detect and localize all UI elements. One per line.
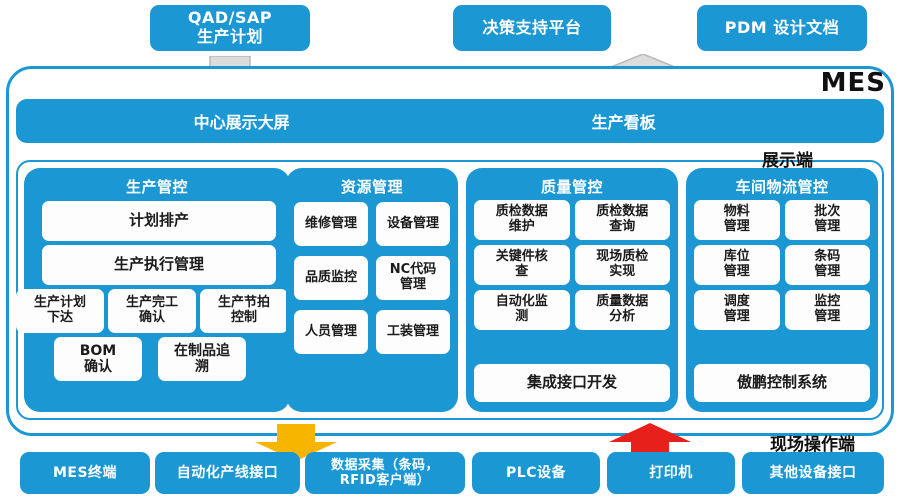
panel-resource-management-title: 资源管理: [286, 176, 458, 197]
module-quality-data-analysis-label: 质量数据分析: [596, 295, 648, 325]
display-side-label: 展示端: [762, 146, 813, 171]
device-data-acquisition-label: 数据采集（条码，RFID客户端）: [331, 458, 439, 489]
module-aopeng-control-system-label: 傲鹏控制系统: [737, 374, 827, 391]
module-monitoring-management[interactable]: 监控管理: [785, 290, 871, 330]
module-plan-release[interactable]: 生产计划下达: [16, 289, 104, 333]
device-plc-equipment-label: PLC设备: [506, 465, 566, 482]
device-other-device-interface[interactable]: 其他设备接口: [742, 452, 884, 494]
module-completion-confirm-label: 生产完工确认: [126, 296, 178, 326]
device-automation-line-interface-label: 自动化产线接口: [177, 465, 279, 482]
device-printer-label: 打印机: [649, 465, 693, 482]
module-inspection-data-query-label: 质检数据查询: [596, 205, 648, 235]
module-automated-monitoring[interactable]: 自动化监测: [474, 290, 570, 330]
module-wip-tracking-label: 在制品追溯: [174, 343, 230, 375]
module-production-execution[interactable]: 生产执行管理: [42, 245, 276, 285]
module-wip-tracking[interactable]: 在制品追溯: [158, 337, 246, 381]
module-integration-interface-development[interactable]: 集成接口开发: [474, 364, 670, 402]
module-onsite-inspection[interactable]: 现场质检实现: [575, 245, 671, 285]
panel-resource-management: 资源管理 维修管理 设备管理 品质监控 NC代码管理 人员管理 工装管理: [286, 168, 458, 412]
panel-workshop-logistics-control: 车间物流管控 物料管理 批次管理 库位管理 条码管理 调度管理 监控管理 傲鹏控…: [686, 168, 878, 412]
device-plc-equipment[interactable]: PLC设备: [472, 452, 600, 494]
module-personnel-management[interactable]: 人员管理: [294, 310, 368, 354]
panel-resource-management-grid: 维修管理 设备管理 品质监控 NC代码管理 人员管理 工装管理: [294, 202, 450, 354]
module-monitoring-management-label: 监控管理: [814, 295, 840, 325]
module-maintenance-management-label: 维修管理: [305, 217, 357, 232]
module-plan-scheduling[interactable]: 计划排产: [42, 201, 276, 241]
module-material-management[interactable]: 物料管理: [694, 200, 780, 240]
module-dispatch-management[interactable]: 调度管理: [694, 290, 780, 330]
module-inspection-data-maintenance-label: 质检数据维护: [496, 205, 548, 235]
module-inspection-data-maintenance[interactable]: 质检数据维护: [474, 200, 570, 240]
module-tooling-management[interactable]: 工装管理: [376, 310, 450, 354]
banner-center-screen-label: 中心展示大屏: [194, 109, 290, 133]
device-data-acquisition[interactable]: 数据采集（条码，RFID客户端）: [305, 452, 465, 494]
module-completion-confirm[interactable]: 生产完工确认: [108, 289, 196, 333]
module-location-management[interactable]: 库位管理: [694, 245, 780, 285]
module-batch-management-label: 批次管理: [814, 205, 840, 235]
banner-production-board-label: 生产看板: [592, 109, 656, 133]
module-plan-scheduling-label: 计划排产: [129, 212, 189, 229]
module-barcode-management-label: 条码管理: [814, 250, 840, 280]
device-mes-terminal-label: MES终端: [53, 465, 117, 482]
device-printer[interactable]: 打印机: [607, 452, 735, 494]
device-other-device-interface-label: 其他设备接口: [770, 465, 857, 482]
module-nc-code-management-label: NC代码管理: [390, 263, 436, 293]
external-system-decision-platform-label: 决策支持平台: [482, 19, 581, 38]
panel-quality-control-grid: 质检数据维护 质检数据查询 关键件核查 现场质检实现 自动化监测 质量数据分析: [474, 200, 670, 330]
panel-workshop-logistics-control-grid: 物料管理 批次管理 库位管理 条码管理 调度管理 监控管理: [694, 200, 870, 330]
module-plan-release-label: 生产计划下达: [34, 296, 86, 326]
module-key-part-check-label: 关键件核查: [496, 250, 548, 280]
module-quality-monitoring[interactable]: 品质监控: [294, 256, 368, 300]
module-personnel-management-label: 人员管理: [305, 325, 357, 340]
module-location-management-label: 库位管理: [724, 250, 750, 280]
module-bom-confirm[interactable]: BOM确认: [54, 337, 142, 381]
external-system-qad-sap-label: QAD/SAP生产计划: [188, 9, 272, 47]
device-mes-terminal[interactable]: MES终端: [20, 452, 150, 494]
external-system-pdm-label: PDM 设计文档: [725, 19, 840, 38]
module-barcode-management[interactable]: 条码管理: [785, 245, 871, 285]
module-integration-interface-development-label: 集成接口开发: [527, 374, 617, 391]
mes-architecture-diagram: QAD/SAP生产计划 决策支持平台 PDM 设计文档 MES 中心展示大屏 生…: [0, 0, 900, 500]
external-system-pdm[interactable]: PDM 设计文档: [697, 5, 867, 51]
module-equipment-management[interactable]: 设备管理: [376, 202, 450, 246]
module-equipment-management-label: 设备管理: [387, 217, 439, 232]
panel-workshop-logistics-control-title: 车间物流管控: [686, 176, 878, 197]
module-quality-monitoring-label: 品质监控: [305, 271, 357, 286]
module-key-part-check[interactable]: 关键件核查: [474, 245, 570, 285]
module-tooling-management-label: 工装管理: [387, 325, 439, 340]
panel-production-control: 生产管控 计划排产 生产执行管理 生产计划下达 生产完工确认 生产节拍控制 BO…: [24, 168, 290, 412]
module-automated-monitoring-label: 自动化监测: [496, 295, 548, 325]
module-material-management-label: 物料管理: [724, 205, 750, 235]
external-system-qad-sap[interactable]: QAD/SAP生产计划: [150, 5, 310, 51]
field-side-label: 现场操作端: [770, 430, 855, 455]
module-batch-management[interactable]: 批次管理: [785, 200, 871, 240]
module-production-execution-label: 生产执行管理: [114, 256, 204, 273]
module-quality-data-analysis[interactable]: 质量数据分析: [575, 290, 671, 330]
module-dispatch-management-label: 调度管理: [724, 295, 750, 325]
module-aopeng-control-system[interactable]: 傲鹏控制系统: [694, 364, 870, 402]
module-bom-confirm-label: BOM确认: [80, 343, 117, 375]
mes-system-label: MES: [821, 68, 886, 98]
panel-production-control-title: 生产管控: [24, 176, 290, 197]
external-system-decision-platform[interactable]: 决策支持平台: [453, 5, 611, 51]
panel-quality-control: 质量管控 质检数据维护 质检数据查询 关键件核查 现场质检实现 自动化监测 质量…: [466, 168, 678, 412]
module-inspection-data-query[interactable]: 质检数据查询: [575, 200, 671, 240]
display-banner: 中心展示大屏 生产看板: [16, 99, 884, 143]
panel-production-control-body: 计划排产 生产执行管理 生产计划下达 生产完工确认 生产节拍控制 BOM确认 在…: [24, 199, 290, 407]
module-nc-code-management[interactable]: NC代码管理: [376, 256, 450, 300]
module-onsite-inspection-label: 现场质检实现: [596, 250, 648, 280]
module-takt-control-label: 生产节拍控制: [218, 296, 270, 326]
module-takt-control[interactable]: 生产节拍控制: [200, 289, 288, 333]
module-maintenance-management[interactable]: 维修管理: [294, 202, 368, 246]
panel-quality-control-title: 质量管控: [466, 176, 678, 197]
device-automation-line-interface[interactable]: 自动化产线接口: [155, 452, 300, 494]
